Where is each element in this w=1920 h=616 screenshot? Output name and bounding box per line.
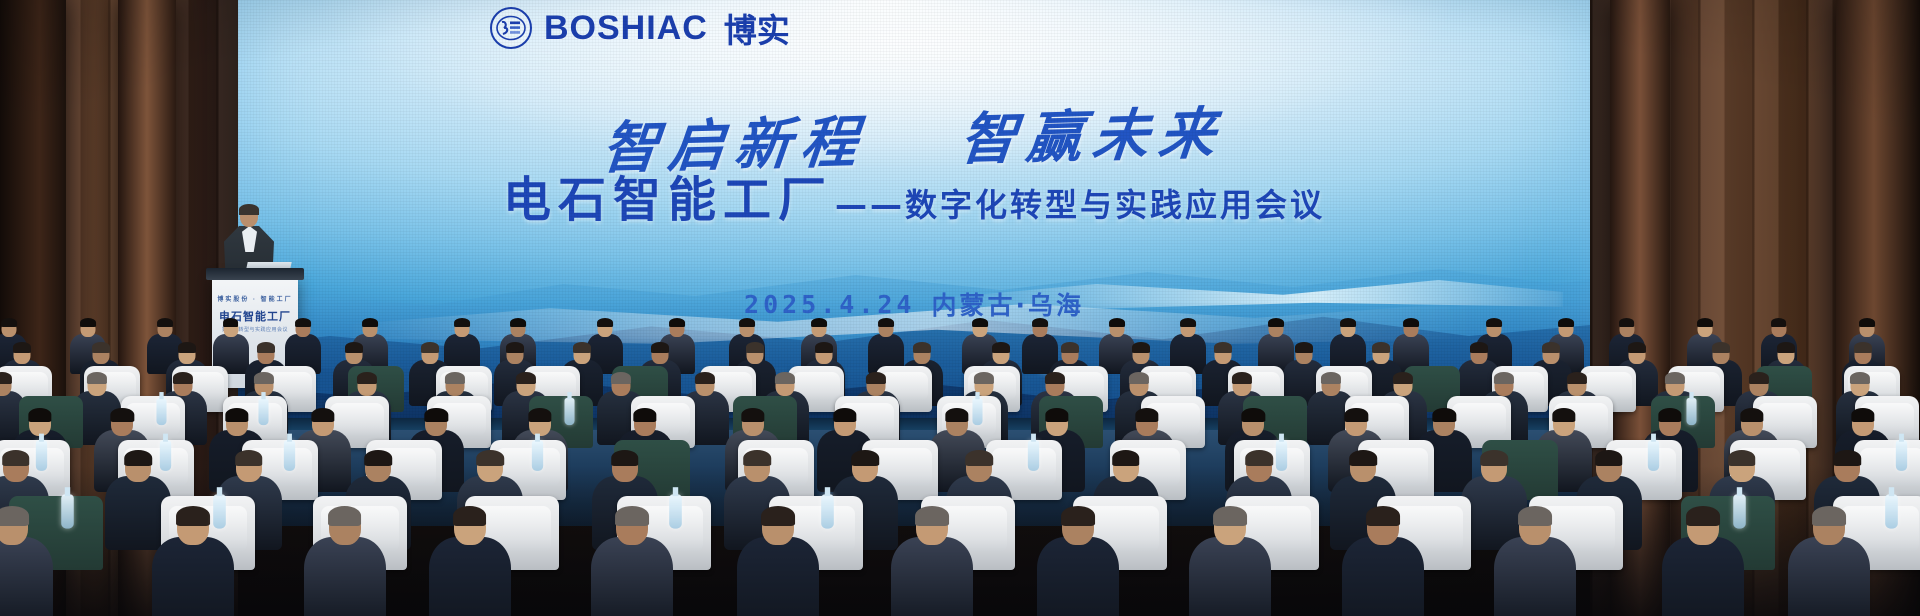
- audience-hair: [1697, 318, 1713, 327]
- audience-hair: [0, 506, 29, 526]
- audience-hair: [362, 318, 378, 327]
- audience-hair: [345, 342, 363, 353]
- audience-hair: [295, 318, 311, 327]
- audience-hair: [421, 342, 439, 353]
- audience-hair: [453, 506, 487, 526]
- audience-hair: [761, 506, 795, 526]
- audience-hair: [1232, 372, 1252, 384]
- audience-hair: [1129, 372, 1149, 384]
- audience-hair: [1486, 318, 1502, 327]
- audience-hair: [1658, 408, 1681, 422]
- audience-hair: [1372, 342, 1390, 353]
- water-bottle: [532, 440, 543, 471]
- water-bottle: [1276, 440, 1287, 471]
- audience-torso: [891, 537, 973, 616]
- audience-hair: [1246, 450, 1274, 466]
- audience-hair: [476, 450, 504, 466]
- audience-member: [591, 508, 673, 616]
- audience-hair: [651, 342, 669, 353]
- audience-hair: [1321, 372, 1341, 384]
- audience-hair: [357, 372, 377, 384]
- audience-hair: [1061, 342, 1079, 353]
- audience-hair: [0, 372, 12, 384]
- audience-member: [0, 508, 53, 616]
- audience-hair: [611, 450, 639, 466]
- water-bottle: [1648, 440, 1659, 471]
- audience-hair: [833, 408, 856, 422]
- brand-name-cn: 博实: [724, 4, 790, 52]
- audience-hair: [972, 318, 988, 327]
- speaker-hair: [239, 204, 259, 215]
- audience-hair: [695, 372, 715, 384]
- audience-member: [737, 508, 819, 616]
- audience-hair: [775, 372, 795, 384]
- audience-hair: [2, 450, 30, 466]
- audience-hair: [226, 408, 249, 422]
- audience-hair: [1345, 408, 1368, 422]
- audience-torso: [152, 537, 234, 616]
- audience-member: [304, 508, 386, 616]
- audience-hair: [1665, 372, 1685, 384]
- seated-audience: [0, 300, 1920, 616]
- audience-hair: [743, 450, 771, 466]
- audience-hair: [1481, 450, 1509, 466]
- audience-hair: [811, 318, 827, 327]
- audience-member: [429, 508, 511, 616]
- audience-hair: [1740, 408, 1763, 422]
- audience-hair: [1552, 408, 1575, 422]
- audience-member: [891, 508, 973, 616]
- audience-member: [1662, 508, 1744, 616]
- audience-hair: [1349, 450, 1377, 466]
- audience-hair: [1567, 372, 1587, 384]
- audience-hair: [1619, 318, 1635, 327]
- audience-hair: [425, 408, 448, 422]
- audience-hair: [1542, 342, 1560, 353]
- audience-hair: [1558, 318, 1574, 327]
- water-bottle: [36, 440, 47, 471]
- audience-hair: [1109, 318, 1125, 327]
- audience-hair: [1494, 372, 1514, 384]
- audience-hair: [235, 450, 263, 466]
- audience-hair: [1340, 318, 1356, 327]
- audience-hair: [611, 372, 631, 384]
- water-bottle: [821, 494, 834, 528]
- audience-hair: [633, 408, 656, 422]
- audience-hair: [1749, 372, 1769, 384]
- audience-hair: [915, 506, 949, 526]
- audience-hair: [254, 372, 274, 384]
- audience-hair: [223, 318, 239, 327]
- audience-hair: [80, 318, 96, 327]
- audience-hair: [852, 450, 880, 466]
- audience-hair: [528, 408, 551, 422]
- audience-hair: [516, 372, 536, 384]
- audience-hair: [311, 408, 334, 422]
- audience-torso: [591, 537, 673, 616]
- audience-hair: [87, 372, 107, 384]
- audience-hair: [1112, 450, 1140, 466]
- audience-torso: [1494, 537, 1576, 616]
- audience-hair: [1214, 342, 1232, 353]
- audience-hair: [506, 342, 524, 353]
- audience-hair: [1242, 408, 1265, 422]
- audience-hair: [669, 318, 685, 327]
- audience-hair: [1433, 408, 1456, 422]
- audience-hair: [1, 318, 17, 327]
- audience-hair: [965, 450, 993, 466]
- audience-hair: [1045, 408, 1068, 422]
- audience-hair: [1366, 506, 1400, 526]
- audience-hair: [111, 408, 134, 422]
- brand-lockup: BOSHIAC 博实: [490, 4, 790, 52]
- audience-hair: [454, 318, 470, 327]
- audience-hair: [992, 342, 1010, 353]
- audience-hair: [878, 318, 894, 327]
- audience-torso: [429, 537, 511, 616]
- audience-hair: [257, 342, 275, 353]
- audience-hair: [1812, 506, 1846, 526]
- audience-hair: [28, 408, 51, 422]
- water-bottle: [259, 398, 269, 425]
- audience-hair: [1135, 408, 1158, 422]
- audience-hair: [597, 318, 613, 327]
- audience-hair: [1403, 318, 1419, 327]
- audience-member: [1037, 508, 1119, 616]
- audience-hair: [173, 372, 193, 384]
- audience-hair: [1854, 342, 1872, 353]
- podium-top-panel: [206, 268, 304, 280]
- audience-hair: [1044, 372, 1064, 384]
- audience-hair: [573, 342, 591, 353]
- audience-hair: [1470, 342, 1488, 353]
- audience-hair: [945, 408, 968, 422]
- audience-hair: [1295, 342, 1313, 353]
- audience-member: [1342, 508, 1424, 616]
- audience-hair: [1850, 372, 1870, 384]
- audience-torso: [1189, 537, 1271, 616]
- audience-member: [1494, 508, 1576, 616]
- audience-hair: [746, 342, 764, 353]
- audience-torso: [737, 537, 819, 616]
- page-title: 电石智能工厂: [503, 160, 833, 230]
- page-subtitle: ——数字化转型与实践应用会议: [835, 180, 1325, 226]
- audience-hair: [615, 506, 649, 526]
- audience-hair: [124, 450, 152, 466]
- water-bottle: [1733, 494, 1746, 528]
- audience-hair: [1213, 506, 1247, 526]
- water-bottle: [157, 398, 167, 425]
- water-bottle: [1896, 440, 1907, 471]
- brand-name-en: BOSHIAC: [544, 9, 708, 48]
- audience-hair: [913, 342, 931, 353]
- audience-torso: [1342, 537, 1424, 616]
- audience-torso: [1662, 537, 1744, 616]
- audience-hair: [176, 506, 210, 526]
- audience-hair: [92, 342, 110, 353]
- audience-hair: [1032, 318, 1048, 327]
- audience-hair: [1595, 450, 1623, 466]
- audience-hair: [178, 342, 196, 353]
- audience-member: [1788, 508, 1870, 616]
- audience-hair: [815, 342, 833, 353]
- water-bottle: [1028, 440, 1039, 471]
- audience-hair: [1628, 342, 1646, 353]
- audience-hair: [1268, 318, 1284, 327]
- audience-hair: [1712, 342, 1730, 353]
- audience-hair: [1859, 318, 1875, 327]
- audience-hair: [1777, 342, 1795, 353]
- audience-hair: [739, 318, 755, 327]
- audience-hair: [1833, 450, 1861, 466]
- boshiac-circle-logo-icon: [490, 7, 532, 49]
- water-bottle: [1687, 398, 1697, 425]
- water-bottle: [160, 440, 171, 471]
- water-bottle: [1885, 494, 1898, 528]
- audience-torso: [1788, 537, 1870, 616]
- water-bottle: [284, 440, 295, 471]
- audience-hair: [1728, 450, 1756, 466]
- audience-hair: [1393, 372, 1413, 384]
- audience-hair: [1851, 408, 1874, 422]
- audience-hair: [510, 318, 526, 327]
- water-bottle: [973, 398, 983, 425]
- audience-hair: [1132, 342, 1150, 353]
- audience-hair: [866, 372, 886, 384]
- audience-hair: [13, 342, 31, 353]
- audience-hair: [741, 408, 764, 422]
- audience-torso: [1037, 537, 1119, 616]
- audience-hair: [1518, 506, 1552, 526]
- water-bottle: [61, 494, 74, 528]
- audience-hair: [364, 450, 392, 466]
- water-bottle: [669, 494, 682, 528]
- audience-torso: [0, 537, 53, 616]
- water-bottle: [565, 398, 575, 425]
- audience-hair: [444, 372, 464, 384]
- audience-hair: [1061, 506, 1095, 526]
- audience-hair: [157, 318, 173, 327]
- audience-torso: [304, 537, 386, 616]
- audience-hair: [1686, 506, 1720, 526]
- audience-hair: [1180, 318, 1196, 327]
- title-row: 电石智能工厂 ——数字化转型与实践应用会议: [238, 160, 1590, 230]
- audience-member: [1189, 508, 1271, 616]
- conference-photo: BOSHIAC 博实 智启新程 智赢未来 电石智能工厂 ——数字化转型与实践应用…: [0, 0, 1920, 616]
- audience-hair: [1771, 318, 1787, 327]
- audience-hair: [328, 506, 362, 526]
- audience-hair: [974, 372, 994, 384]
- water-bottle: [213, 494, 226, 528]
